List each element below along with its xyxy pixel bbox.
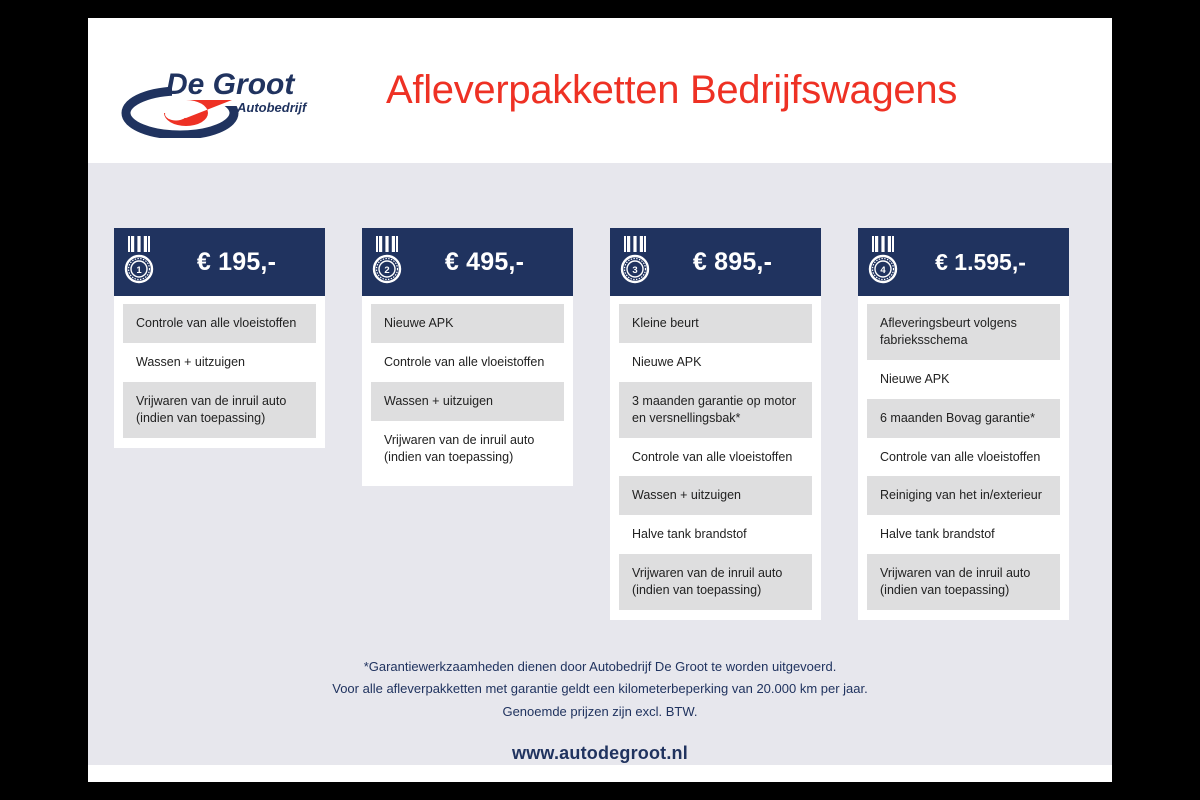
feature-item: Reiniging van het in/exterieur: [867, 476, 1060, 515]
bottom-white-strip: [88, 765, 1112, 782]
feature-item: Vrijwaren van de inruil auto (indien van…: [867, 554, 1060, 610]
poster-stage: De Groot Autobedrijf Afleverpakketten Be…: [88, 18, 1112, 782]
footer-disclaimer-1: *Garantiewerkzaamheden dienen door Autob…: [88, 656, 1112, 678]
package-card-4[interactable]: 4 € 1.595,- Afleveringsbeurt volgens fab…: [858, 228, 1069, 620]
package-features-4: Afleveringsbeurt volgens fabrieksschema …: [858, 296, 1069, 620]
feature-item: Nieuwe APK: [619, 343, 812, 382]
package-card-grid: 1 € 195,- Controle van alle vloeistoffen…: [88, 228, 1112, 620]
feature-item: Wassen + uitzuigen: [619, 476, 812, 515]
package-header-4: 4 € 1.595,-: [858, 228, 1069, 296]
feature-item: 3 maanden garantie op motor en versnelli…: [619, 382, 812, 438]
de-groot-logo-mark: De Groot Autobedrijf: [114, 66, 344, 138]
package-card-2[interactable]: 2 € 495,- Nieuwe APK Controle van alle v…: [362, 228, 573, 486]
package-price-2: € 495,-: [408, 248, 565, 277]
feature-item: Afleveringsbeurt volgens fabrieksschema: [867, 304, 1060, 360]
medal-number: 1: [136, 265, 142, 276]
feature-item: Halve tank brandstof: [619, 515, 812, 554]
package-features-1: Controle van alle vloeistoffen Wassen + …: [114, 296, 325, 448]
feature-item: Vrijwaren van de inruil auto (indien van…: [619, 554, 812, 610]
website-link[interactable]: www.autodegroot.nl: [512, 743, 688, 764]
package-price-3: € 895,-: [656, 248, 813, 277]
feature-item: Wassen + uitzuigen: [371, 382, 564, 421]
feature-item: Controle van alle vloeistoffen: [123, 304, 316, 343]
feature-item: Nieuwe APK: [371, 304, 564, 343]
header-band: De Groot Autobedrijf Afleverpakketten Be…: [88, 18, 1112, 163]
feature-item: Nieuwe APK: [867, 360, 1060, 399]
page-title: Afleverpakketten Bedrijfswagens: [386, 68, 957, 113]
feature-item: Controle van alle vloeistoffen: [867, 438, 1060, 477]
footer-disclaimer-3: Genoemde prijzen zijn excl. BTW.: [88, 701, 1112, 723]
package-features-2: Nieuwe APK Controle van alle vloeistoffe…: [362, 296, 573, 486]
package-price-4: € 1.595,-: [904, 249, 1061, 276]
medal-icon: 4: [868, 236, 898, 288]
feature-item: Vrijwaren van de inruil auto (indien van…: [123, 382, 316, 438]
package-card-3[interactable]: 3 € 895,- Kleine beurt Nieuwe APK 3 maan…: [610, 228, 821, 620]
feature-item: Vrijwaren van de inruil auto (indien van…: [371, 421, 564, 477]
medal-number: 3: [632, 265, 637, 276]
medal-icon: 1: [124, 236, 154, 288]
feature-item: Controle van alle vloeistoffen: [371, 343, 564, 382]
package-header-2: 2 € 495,-: [362, 228, 573, 296]
footer: *Garantiewerkzaamheden dienen door Autob…: [88, 656, 1112, 764]
feature-item: Controle van alle vloeistoffen: [619, 438, 812, 477]
company-logo: De Groot Autobedrijf: [114, 66, 344, 138]
feature-item: Kleine beurt: [619, 304, 812, 343]
logo-subtitle: Autobedrijf: [236, 100, 308, 115]
package-card-1[interactable]: 1 € 195,- Controle van alle vloeistoffen…: [114, 228, 325, 448]
package-header-1: 1 € 195,-: [114, 228, 325, 296]
footer-disclaimer-2: Voor alle afleverpakketten met garantie …: [88, 678, 1112, 700]
medal-number: 2: [384, 265, 389, 276]
feature-item: 6 maanden Bovag garantie*: [867, 399, 1060, 438]
logo-wordmark: De Groot: [166, 68, 296, 101]
package-header-3: 3 € 895,-: [610, 228, 821, 296]
feature-item: Wassen + uitzuigen: [123, 343, 316, 382]
medal-icon: 3: [620, 236, 650, 288]
package-features-3: Kleine beurt Nieuwe APK 3 maanden garant…: [610, 296, 821, 620]
feature-item: Halve tank brandstof: [867, 515, 1060, 554]
medal-number: 4: [880, 265, 886, 276]
package-price-1: € 195,-: [160, 248, 317, 277]
medal-icon: 2: [372, 236, 402, 288]
